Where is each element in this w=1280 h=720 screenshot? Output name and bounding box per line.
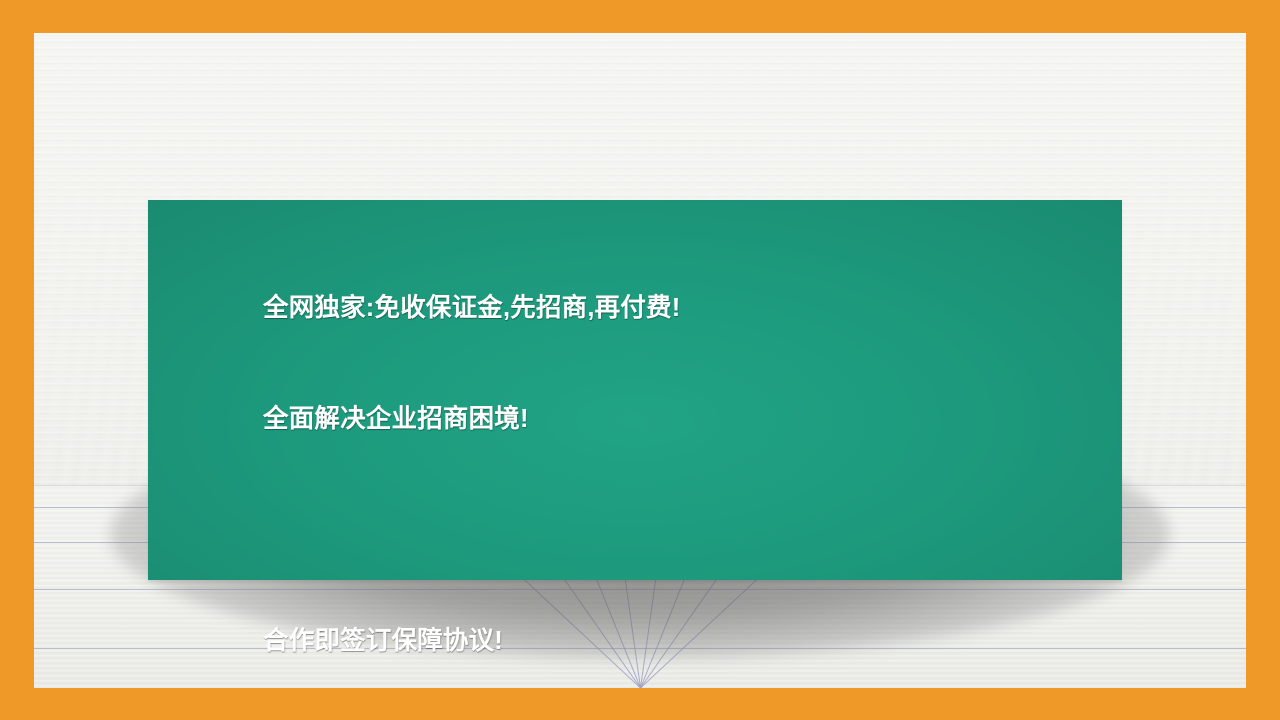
promo-line-spacer <box>263 512 1114 549</box>
promo-text-block: 全网独家:免收保证金,先招商,再付费! 全面解决企业招商困境! 合作即签订保障协… <box>263 216 1114 688</box>
promo-line: 合作即签订保障协议! <box>263 623 1114 660</box>
slide-root: 全网独家:免收保证金,先招商,再付费! 全面解决企业招商困境! 合作即签订保障协… <box>0 0 1280 720</box>
promo-panel: 全网独家:免收保证金,先招商,再付费! 全面解决企业招商困境! 合作即签订保障协… <box>148 200 1122 580</box>
promo-line: 全面解决企业招商困境! <box>263 401 1114 438</box>
room-stage: 全网独家:免收保证金,先招商,再付费! 全面解决企业招商困境! 合作即签订保障协… <box>34 33 1246 688</box>
promo-line: 全网独家:免收保证金,先招商,再付费! <box>263 290 1114 327</box>
